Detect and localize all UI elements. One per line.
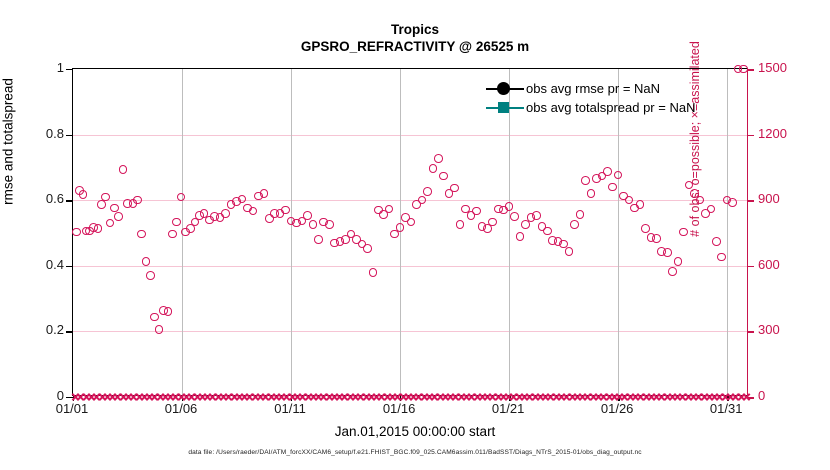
gridline-vertical bbox=[400, 69, 401, 395]
legend-marker-totalspread-icon bbox=[484, 98, 526, 117]
data-point-obs-possible bbox=[570, 220, 579, 229]
gridline-vertical bbox=[618, 69, 619, 395]
data-point-obs-possible bbox=[172, 218, 181, 227]
y-axis-left-tick-label: 0 bbox=[4, 389, 64, 402]
data-point-obs-possible bbox=[587, 189, 596, 198]
data-point-obs-possible bbox=[363, 244, 372, 253]
data-point-obs-possible bbox=[281, 206, 290, 215]
data-point-obs-possible bbox=[712, 237, 721, 246]
y-tick-right bbox=[747, 135, 754, 137]
data-point-obs-possible bbox=[674, 257, 683, 266]
data-point-obs-possible bbox=[407, 218, 416, 227]
x-axis-tick-label: 01/01 bbox=[37, 402, 107, 416]
data-point-obs-possible bbox=[679, 228, 688, 237]
data-point-obs-assimilated bbox=[742, 393, 751, 402]
data-point-obs-possible bbox=[488, 218, 497, 227]
gridline-horizontal bbox=[73, 266, 747, 267]
chart-title-block: Tropics GPSRO_REFRACTIVITY @ 26525 m bbox=[0, 22, 830, 55]
data-point-obs-possible bbox=[565, 247, 574, 256]
data-point-obs-possible bbox=[581, 176, 590, 185]
data-point-obs-possible bbox=[97, 200, 106, 209]
data-point-obs-possible bbox=[510, 212, 519, 221]
data-point-obs-possible bbox=[106, 219, 115, 228]
data-file-footer: data file: /Users/raeder/DAI/ATM_forcXX/… bbox=[0, 449, 830, 456]
data-point-obs-possible bbox=[146, 271, 155, 280]
data-point-obs-possible bbox=[434, 154, 443, 163]
data-point-obs-possible bbox=[142, 257, 151, 266]
data-point-obs-possible bbox=[119, 165, 128, 174]
y-axis-right-tick-label: 1200 bbox=[758, 127, 818, 140]
y-tick-right bbox=[747, 200, 754, 202]
data-point-obs-possible bbox=[385, 205, 394, 214]
data-point-obs-possible bbox=[418, 196, 427, 205]
chart-legend: obs avg rmse pr = NaN obs avg totalsprea… bbox=[484, 79, 695, 117]
y-tick-left bbox=[66, 69, 73, 70]
data-point-obs-possible bbox=[221, 209, 230, 218]
data-point-obs-possible bbox=[576, 210, 585, 219]
legend-marker-rmse-icon bbox=[484, 79, 526, 98]
data-point-obs-possible bbox=[137, 230, 146, 239]
data-point-obs-possible bbox=[663, 248, 672, 257]
data-point-obs-possible bbox=[450, 184, 459, 193]
x-axis-tick-label: 01/06 bbox=[146, 402, 216, 416]
data-point-obs-possible bbox=[114, 212, 123, 221]
data-point-obs-possible bbox=[543, 227, 552, 236]
y-axis-right-tick-label: 1500 bbox=[758, 61, 818, 74]
data-point-obs-possible bbox=[79, 190, 88, 199]
x-axis-tick-label: 01/16 bbox=[364, 402, 434, 416]
data-point-obs-possible bbox=[155, 325, 164, 334]
data-point-obs-possible bbox=[249, 207, 258, 216]
y-tick-left bbox=[66, 331, 73, 332]
legend-label-totalspread: obs avg totalspread pr = NaN bbox=[526, 100, 695, 115]
data-point-obs-possible bbox=[260, 189, 269, 198]
legend-entry-totalspread[interactable]: obs avg totalspread pr = NaN bbox=[484, 98, 695, 117]
y-axis-right-tick-label: 900 bbox=[758, 192, 818, 205]
data-point-obs-possible bbox=[72, 228, 81, 237]
gridline-vertical bbox=[509, 69, 510, 395]
data-point-obs-possible bbox=[707, 205, 716, 214]
x-axis-tick-label: 01/31 bbox=[691, 402, 761, 416]
data-point-obs-possible bbox=[314, 235, 323, 244]
y-tick-left bbox=[66, 200, 73, 201]
y-axis-right-title: # of obs: o=possible; ×=assimilated bbox=[688, 0, 702, 329]
chart-title-main: Tropics bbox=[0, 22, 830, 38]
figure-canvas: Tropics GPSRO_REFRACTIVITY @ 26525 m 00.… bbox=[0, 0, 830, 470]
x-axis-tick-label: 01/26 bbox=[582, 402, 652, 416]
data-point-obs-possible bbox=[110, 204, 119, 213]
x-axis-title: Jan.01,2015 00:00:00 start bbox=[0, 424, 830, 439]
plot-area bbox=[72, 68, 748, 396]
y-tick-right bbox=[747, 69, 754, 71]
data-point-obs-possible bbox=[636, 200, 645, 209]
legend-label-rmse: obs avg rmse pr = NaN bbox=[526, 81, 660, 96]
x-axis-tick-label: 01/21 bbox=[473, 402, 543, 416]
y-tick-left bbox=[66, 135, 73, 136]
data-point-obs-possible bbox=[728, 198, 737, 207]
data-point-obs-possible bbox=[532, 211, 541, 220]
data-point-obs-possible bbox=[456, 220, 465, 229]
data-point-obs-possible bbox=[150, 313, 159, 322]
y-axis-right-tick-label: 600 bbox=[758, 258, 818, 271]
x-axis-tick-label: 01/11 bbox=[255, 402, 325, 416]
y-axis-left-title: rmse and totalspread bbox=[1, 0, 16, 332]
gridline-horizontal bbox=[73, 331, 747, 332]
y-tick-right bbox=[747, 266, 754, 268]
data-point-obs-possible bbox=[133, 196, 142, 205]
data-point-obs-possible bbox=[505, 202, 514, 211]
y-axis-right-tick-label: 0 bbox=[758, 389, 818, 402]
data-point-obs-possible bbox=[396, 223, 405, 232]
data-point-obs-possible bbox=[717, 253, 726, 262]
gridline-vertical bbox=[727, 69, 728, 395]
gridline-horizontal bbox=[73, 135, 747, 136]
data-point-obs-possible bbox=[429, 164, 438, 173]
y-tick-right bbox=[747, 331, 754, 333]
data-point-obs-possible bbox=[238, 195, 247, 204]
gridline-vertical bbox=[291, 69, 292, 395]
y-axis-right-tick-label: 300 bbox=[758, 323, 818, 336]
data-point-obs-possible bbox=[608, 183, 617, 192]
data-point-obs-possible bbox=[369, 268, 378, 277]
chart-title-sub: GPSRO_REFRACTIVITY @ 26525 m bbox=[0, 38, 830, 55]
data-point-obs-possible bbox=[652, 234, 661, 243]
data-point-obs-possible bbox=[668, 267, 677, 276]
data-point-obs-possible bbox=[94, 224, 103, 233]
y-tick-left bbox=[66, 266, 73, 267]
data-point-obs-possible bbox=[303, 211, 312, 220]
data-point-obs-possible bbox=[472, 207, 481, 216]
data-point-obs-possible bbox=[164, 307, 173, 316]
data-point-obs-possible bbox=[439, 172, 448, 181]
data-point-obs-possible bbox=[516, 232, 525, 241]
data-point-obs-possible bbox=[614, 171, 623, 180]
data-point-obs-possible bbox=[101, 193, 110, 202]
data-point-obs-possible bbox=[739, 65, 748, 74]
legend-entry-rmse[interactable]: obs avg rmse pr = NaN bbox=[484, 79, 695, 98]
data-point-obs-possible bbox=[325, 220, 334, 229]
data-point-obs-possible bbox=[603, 167, 612, 176]
data-point-obs-possible bbox=[641, 224, 650, 233]
gridline-horizontal bbox=[73, 200, 747, 201]
data-point-obs-possible bbox=[168, 230, 177, 239]
data-point-obs-possible bbox=[309, 220, 318, 229]
data-point-obs-possible bbox=[423, 187, 432, 196]
